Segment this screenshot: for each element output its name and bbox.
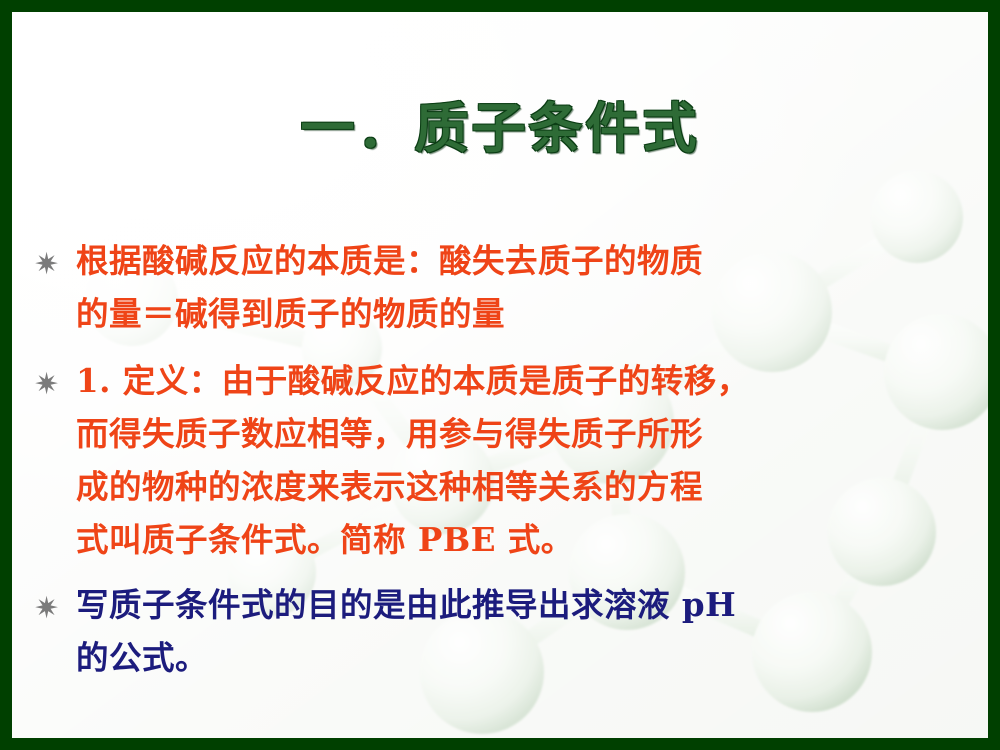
bullet-item: ✷ 1. 定义：由于酸碱反应的本质是质子的转移， 而得失质子数应相等，用参与得失… bbox=[34, 354, 894, 566]
bullet-line: 1. 定义：由于酸碱反应的本质是质子的转移， bbox=[76, 354, 894, 407]
bullet-line: 写质子条件式的目的是由此推导出求溶液 pH bbox=[76, 578, 894, 631]
slide-title: 一．质子条件式 bbox=[12, 84, 988, 163]
bullet-item: ✷ 写质子条件式的目的是由此推导出求溶液 pH 的公式。 bbox=[34, 578, 894, 684]
bullet-line: 的量＝碱得到质子的物质的量 bbox=[76, 287, 894, 340]
bullet-list: ✷ 根据酸碱反应的本质是：酸失去质子的物质 的量＝碱得到质子的物质的量 ✷ 1.… bbox=[34, 234, 894, 690]
bullet-line: 而得失质子数应相等，用参与得失质子所形 bbox=[76, 407, 894, 460]
bullet-line: 成的物种的浓度来表示这种相等关系的方程 bbox=[76, 460, 894, 513]
bullet-line: 式叫质子条件式。简称 PBE 式。 bbox=[76, 513, 894, 566]
bullet-text: 根据酸碱反应的本质是：酸失去质子的物质 的量＝碱得到质子的物质的量 bbox=[76, 234, 894, 340]
bullet-item: ✷ 根据酸碱反应的本质是：酸失去质子的物质 的量＝碱得到质子的物质的量 bbox=[34, 234, 894, 340]
slide-frame: 一．质子条件式 ✷ 根据酸碱反应的本质是：酸失去质子的物质 的量＝碱得到质子的物… bbox=[0, 0, 1000, 750]
slide-canvas: 一．质子条件式 ✷ 根据酸碱反应的本质是：酸失去质子的物质 的量＝碱得到质子的物… bbox=[12, 12, 988, 738]
bullet-text: 写质子条件式的目的是由此推导出求溶液 pH 的公式。 bbox=[76, 578, 894, 684]
star-bullet-icon: ✷ bbox=[34, 578, 76, 624]
bullet-line: 的公式。 bbox=[76, 631, 894, 684]
bullet-line: 根据酸碱反应的本质是：酸失去质子的物质 bbox=[76, 234, 894, 287]
star-bullet-icon: ✷ bbox=[34, 354, 76, 400]
star-bullet-icon: ✷ bbox=[34, 234, 76, 280]
bullet-text: 1. 定义：由于酸碱反应的本质是质子的转移， 而得失质子数应相等，用参与得失质子… bbox=[76, 354, 894, 566]
